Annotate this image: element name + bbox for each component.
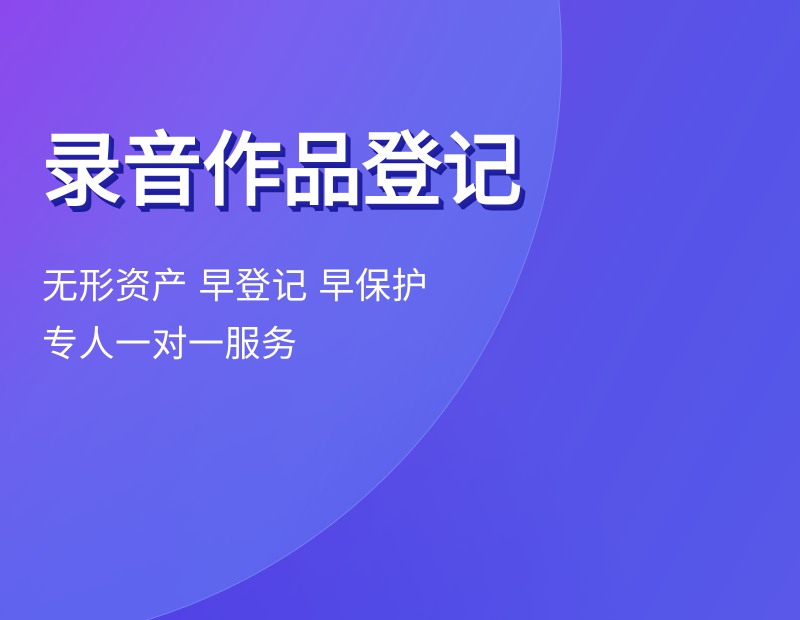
banner-headline: 录音作品登记 xyxy=(42,128,522,214)
promo-banner: 录音作品登记 无形资产 早登记 早保护 专人一对一服务 xyxy=(0,0,800,620)
banner-content: 录音作品登记 无形资产 早登记 早保护 专人一对一服务 xyxy=(42,0,742,620)
banner-subtitle-line-2: 专人一对一服务 xyxy=(42,322,298,366)
banner-subtitle-line-1: 无形资产 早登记 早保护 xyxy=(42,264,428,308)
